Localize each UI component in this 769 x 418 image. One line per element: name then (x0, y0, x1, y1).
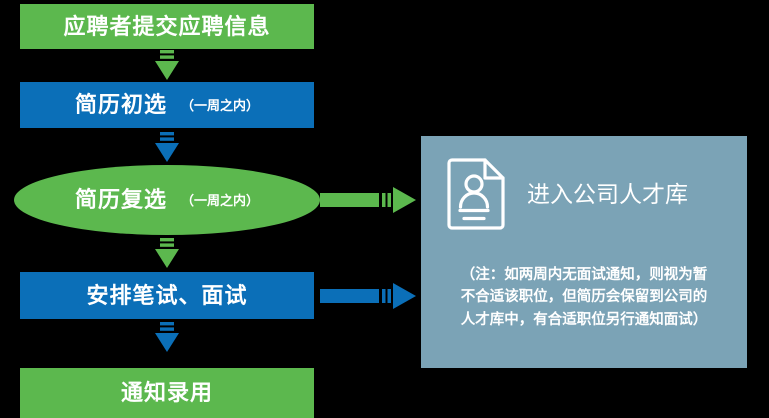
flow-node-resume-first-screen-label: 简历初选 (75, 94, 167, 116)
flow-node-resume-first-screen-note: （一周之内） (181, 99, 259, 112)
flow-node-notify-hire[interactable]: 通知录用 (20, 368, 314, 418)
flow-node-resume-second-screen[interactable]: 简历复选 （一周之内） (14, 165, 320, 235)
talent-pool-note-line: 不合适该职位，但简历会保留到公司的 (435, 286, 733, 308)
flow-node-notify-hire-label: 通知录用 (121, 382, 213, 404)
flow-node-resume-second-screen-label: 简历复选 (75, 189, 167, 211)
flow-node-submit[interactable]: 应聘者提交应聘信息 (20, 4, 314, 49)
talent-pool-note: （注：如两周内无面试通知，则视为暂 不合适该职位，但简历会保留到公司的 人才库中… (435, 264, 733, 331)
talent-pool-panel[interactable]: 进入公司人才库 （注：如两周内无面试通知，则视为暂 不合适该职位，但简历会保留到… (421, 136, 747, 368)
flow-node-submit-label: 应聘者提交应聘信息 (63, 16, 270, 38)
flowchart-canvas: 应聘者提交应聘信息 简历初选 （一周之内） 简历复选 （一周之内） (0, 0, 769, 418)
talent-pool-header: 进入公司人才库 (421, 144, 747, 244)
arrow-right-icon (320, 186, 416, 214)
arrow-down-icon (151, 322, 183, 354)
arrow-down-icon (151, 238, 183, 270)
document-person-icon (447, 158, 505, 230)
talent-pool-note-line: 人才库中，有合适职位另行通知面试） (435, 309, 733, 331)
flow-node-arrange-exam-interview-label: 安排笔试、面试 (86, 285, 247, 307)
talent-pool-title: 进入公司人才库 (527, 183, 688, 206)
flow-node-resume-second-screen-note: （一周之内） (181, 194, 259, 207)
flow-node-resume-first-screen[interactable]: 简历初选 （一周之内） (20, 82, 314, 128)
flow-node-arrange-exam-interview[interactable]: 安排笔试、面试 (20, 272, 314, 319)
talent-pool-note-line: （注：如两周内无面试通知，则视为暂 (435, 264, 733, 286)
arrow-down-icon (151, 132, 183, 164)
arrow-down-icon (151, 50, 183, 82)
arrow-right-icon (320, 282, 416, 310)
